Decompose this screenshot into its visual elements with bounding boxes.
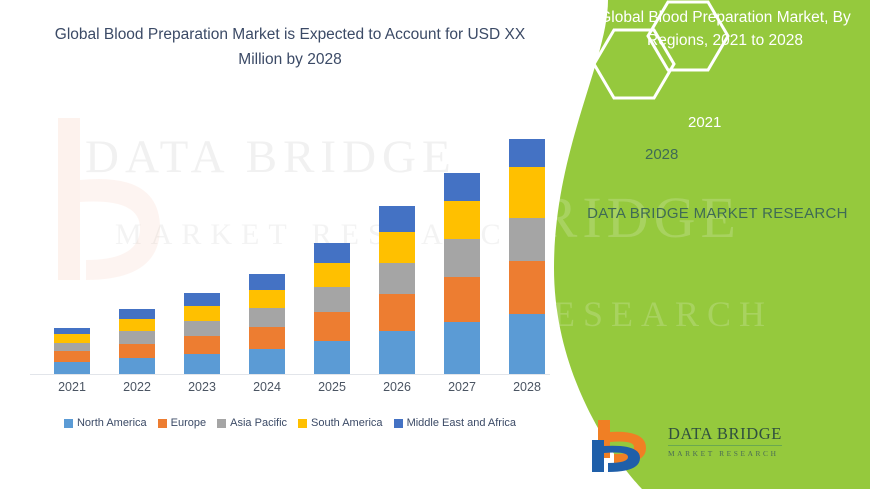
chart-plot-area [20,100,560,375]
legend-swatch [158,419,167,428]
bar-segment [444,239,480,277]
bar-segment [379,263,415,294]
infographic-root: DATA BRIDGE MARKET RESEARCH Global Blood… [0,0,870,489]
bar-group [314,243,350,374]
legend-swatch [64,419,73,428]
dbmr-b-mark-icon [590,418,660,474]
bar-segment [54,334,90,343]
bar-segment [509,261,545,314]
legend-label: North America [77,417,147,429]
bar-group [249,274,285,374]
x-axis-tick-label: 2028 [497,380,557,394]
bar-segment [444,173,480,201]
bar-segment [184,321,220,336]
bar-segment [509,314,545,374]
legend-item[interactable]: Asia Pacific [217,417,287,429]
bar-group [119,309,155,374]
bar-segment [379,294,415,332]
legend-swatch [298,419,307,428]
x-axis-tick-label: 2024 [237,380,297,394]
bar-group [509,139,545,374]
hexagon-pair-icon [550,0,750,100]
bar-segment [249,308,285,327]
bar-segment [54,351,90,361]
bar-group [54,328,90,374]
bar-segment [314,263,350,287]
legend-label: Asia Pacific [230,417,287,429]
legend-label: Europe [171,417,206,429]
x-axis-tick-label: 2025 [302,380,362,394]
bar-segment [379,206,415,232]
bar-segment [184,354,220,374]
x-axis-tick-label: 2026 [367,380,427,394]
bar-group [184,293,220,374]
dbmr-logo-text: DATA BRIDGE MARKET RESEARCH [668,424,782,458]
dbmr-logo-main: DATA BRIDGE [668,424,782,446]
bar-segment [509,167,545,218]
dbmr-logo-sub: MARKET RESEARCH [668,449,782,458]
bar-segment [184,293,220,306]
green-panel-brand: DATA BRIDGE MARKET RESEARCH [580,203,855,225]
x-axis-labels: 20212022202320242025202620272028 [20,380,560,400]
bar-segment [249,349,285,374]
bar-segment [509,139,545,167]
dbmr-logo: DATA BRIDGE MARKET RESEARCH [590,418,840,474]
bar-segment [184,306,220,321]
bar-group [379,206,415,374]
bar-group [444,173,480,374]
bar-segment [249,274,285,290]
bar-series-container [20,100,560,375]
x-axis-tick-label: 2022 [107,380,167,394]
bar-segment [119,358,155,374]
bar-segment [444,201,480,239]
x-axis-tick-label: 2023 [172,380,232,394]
bar-segment [54,343,90,352]
bar-segment [249,290,285,308]
bar-segment [314,287,350,312]
bar-segment [119,309,155,319]
legend-item[interactable]: Europe [158,417,206,429]
hexagon-label-2021: 2021 [688,114,721,131]
hexagon-2028-icon [594,30,674,98]
page-title: Global Blood Preparation Market is Expec… [40,22,540,72]
green-side-panel: BRIDGE RESEARCH Global Blood Preparation… [550,0,870,489]
bar-segment [314,243,350,264]
bar-segment [444,277,480,322]
bar-segment [119,331,155,343]
bar-segment [184,336,220,354]
legend-item[interactable]: North America [64,417,147,429]
bar-segment [119,319,155,331]
hexagon-label-2028: 2028 [645,146,678,163]
legend-label: Middle East and Africa [407,417,516,429]
green-panel-watermark: BRIDGE RESEARCH [550,170,773,362]
chart-legend: North AmericaEuropeAsia PacificSouth Ame… [20,417,560,429]
bar-segment [249,327,285,350]
bar-segment [444,322,480,374]
bar-segment [314,341,350,374]
legend-item[interactable]: Middle East and Africa [394,417,516,429]
bar-segment [379,232,415,262]
bar-segment [54,362,90,374]
green-watermark-line2: RESEARCH [550,266,773,362]
bar-segment [54,328,90,335]
legend-item[interactable]: South America [298,417,383,429]
hexagon-2021-icon [648,2,728,70]
bar-segment [314,312,350,341]
x-axis-tick-label: 2021 [42,380,102,394]
bar-segment [379,331,415,374]
legend-swatch [217,419,226,428]
legend-swatch [394,419,403,428]
legend-label: South America [311,417,383,429]
x-axis-tick-label: 2027 [432,380,492,394]
bar-segment [119,344,155,358]
bar-segment [509,218,545,261]
